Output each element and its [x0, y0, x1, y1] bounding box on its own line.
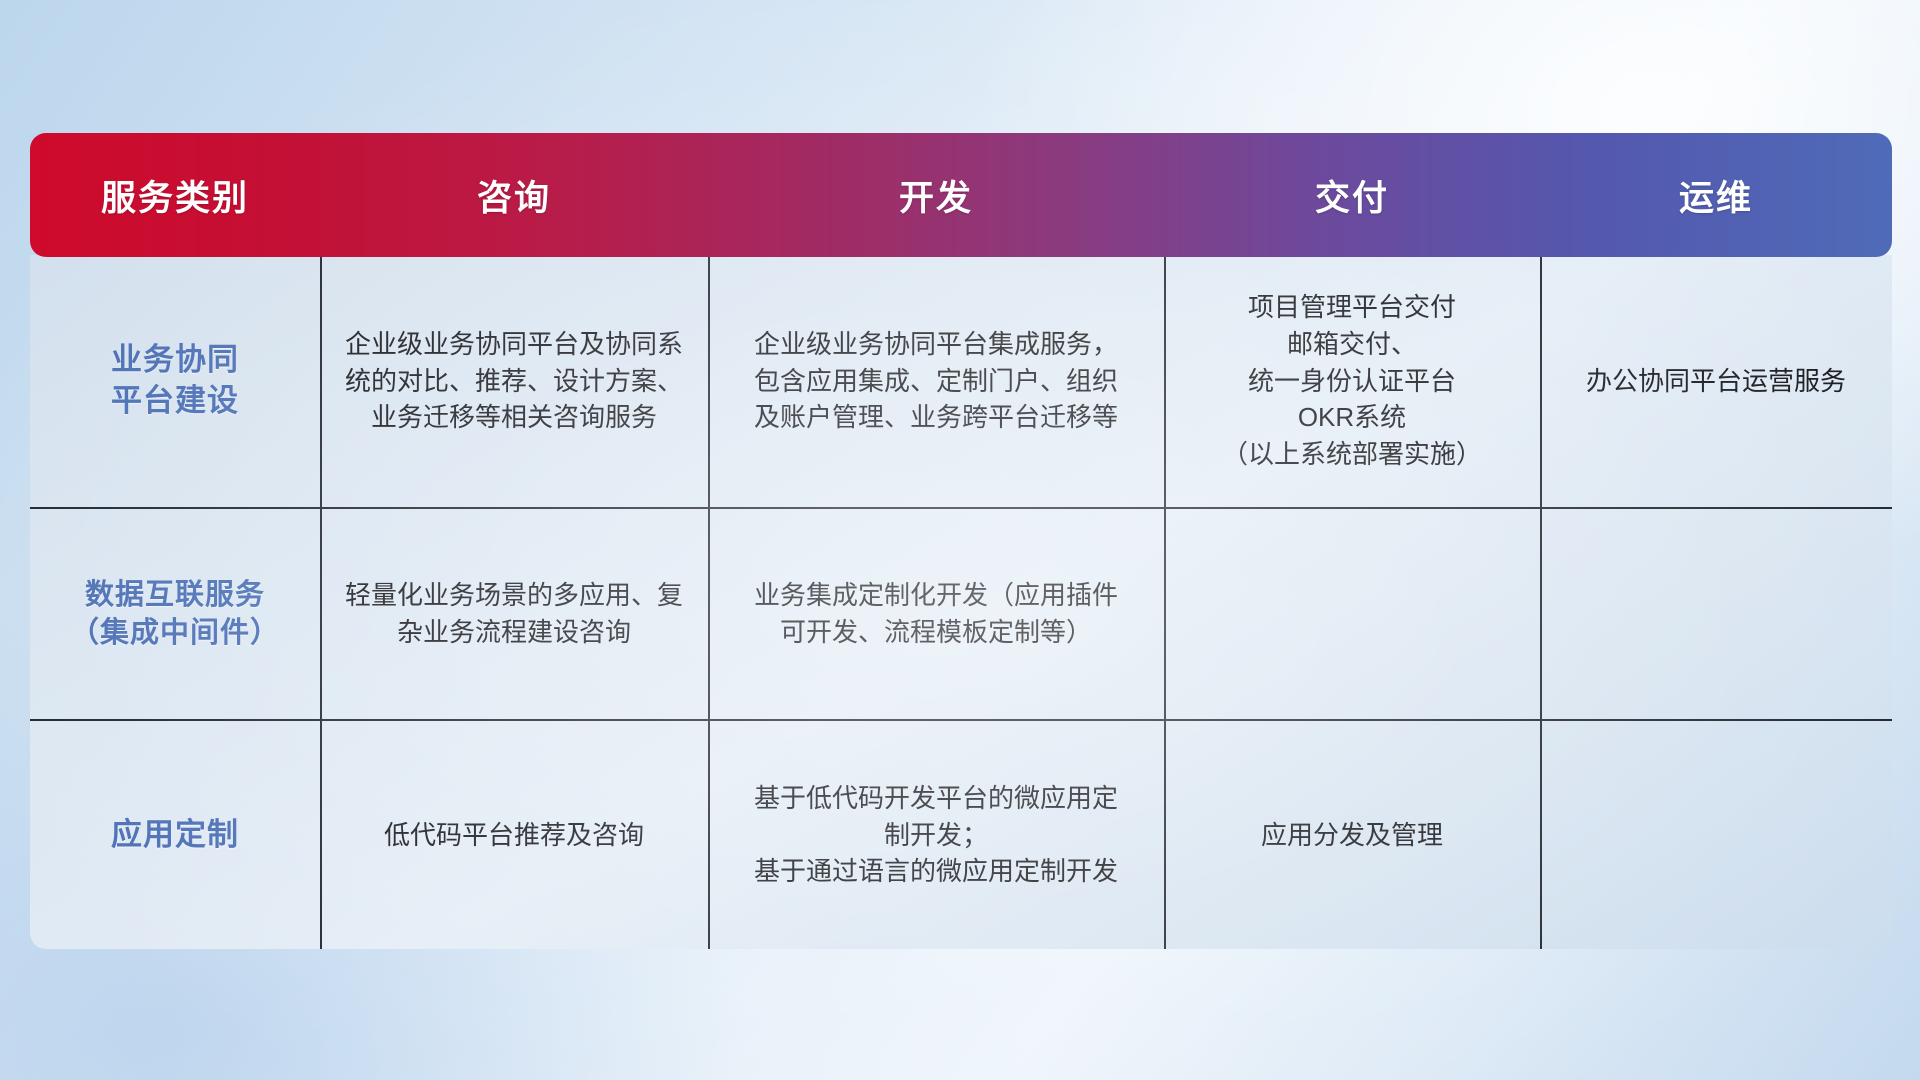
cell-operations: 办公协同平台运营服务: [1540, 255, 1892, 507]
service-matrix-table: 服务类别 咨询 开发 交付 运维 业务协同 平台建设 企业级业务协同平台及协同系…: [30, 133, 1892, 949]
cell-delivery: 项目管理平台交付 邮箱交付、 统一身份认证平台 OKR系统 （以上系统部署实施）: [1164, 255, 1540, 507]
column-header-development: 开发: [708, 133, 1164, 257]
cell-consulting: 轻量化业务场景的多应用、复 杂业务流程建设咨询: [320, 509, 708, 719]
cell-development: 企业级业务协同平台集成服务， 包含应用集成、定制门户、组织 及账户管理、业务跨平…: [708, 255, 1164, 507]
cell-text: 企业级业务协同平台及协同系 统的对比、推荐、设计方案、 业务迁移等相关咨询服务: [345, 326, 683, 437]
cell-development: 基于低代码开发平台的微应用定 制开发； 基于通过语言的微应用定制开发: [708, 721, 1164, 949]
table-row: 数据互联服务 （集成中间件） 轻量化业务场景的多应用、复 杂业务流程建设咨询 业…: [30, 507, 1892, 719]
cell-development: 业务集成定制化开发（应用插件 可开发、流程模板定制等）: [708, 509, 1164, 719]
category-text: 数据互联服务 （集成中间件）: [70, 576, 280, 653]
column-header-category: 服务类别: [30, 133, 320, 257]
cell-text: 项目管理平台交付 邮箱交付、 统一身份认证平台 OKR系统 （以上系统部署实施）: [1222, 289, 1482, 474]
column-header-delivery: 交付: [1164, 133, 1540, 257]
table-header-row: 服务类别 咨询 开发 交付 运维: [30, 133, 1892, 257]
table-row: 业务协同 平台建设 企业级业务协同平台及协同系 统的对比、推荐、设计方案、 业务…: [30, 255, 1892, 507]
cell-consulting: 低代码平台推荐及咨询: [320, 721, 708, 949]
cell-text: 轻量化业务场景的多应用、复 杂业务流程建设咨询: [345, 577, 683, 651]
cell-operations: [1540, 721, 1892, 949]
cell-text: 应用分发及管理: [1261, 817, 1443, 854]
row-category-label: 数据互联服务 （集成中间件）: [30, 509, 320, 719]
table-body: 业务协同 平台建设 企业级业务协同平台及协同系 统的对比、推荐、设计方案、 业务…: [30, 255, 1892, 949]
cell-delivery: [1164, 509, 1540, 719]
category-text: 业务协同 平台建设: [111, 340, 239, 422]
cell-text: 办公协同平台运营服务: [1586, 363, 1846, 400]
column-header-consulting: 咨询: [320, 133, 708, 257]
category-text: 应用定制: [111, 815, 239, 856]
cell-delivery: 应用分发及管理: [1164, 721, 1540, 949]
row-category-label: 业务协同 平台建设: [30, 255, 320, 507]
cell-operations: [1540, 509, 1892, 719]
cell-consulting: 企业级业务协同平台及协同系 统的对比、推荐、设计方案、 业务迁移等相关咨询服务: [320, 255, 708, 507]
column-header-operations: 运维: [1540, 133, 1892, 257]
slide-canvas: 服务类别 咨询 开发 交付 运维 业务协同 平台建设 企业级业务协同平台及协同系…: [0, 0, 1920, 1080]
table-row: 应用定制 低代码平台推荐及咨询 基于低代码开发平台的微应用定 制开发； 基于通过…: [30, 719, 1892, 949]
row-category-label: 应用定制: [30, 721, 320, 949]
cell-text: 低代码平台推荐及咨询: [384, 817, 644, 854]
cell-text: 基于低代码开发平台的微应用定 制开发； 基于通过语言的微应用定制开发: [754, 780, 1118, 891]
cell-text: 企业级业务协同平台集成服务， 包含应用集成、定制门户、组织 及账户管理、业务跨平…: [754, 326, 1118, 437]
cell-text: 业务集成定制化开发（应用插件 可开发、流程模板定制等）: [754, 577, 1118, 651]
